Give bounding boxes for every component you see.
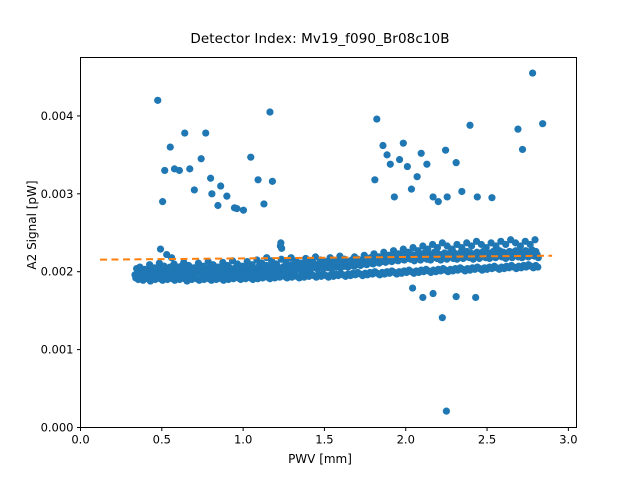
data-point [409,284,416,291]
data-point [269,178,276,185]
data-point [371,176,378,183]
data-point [383,151,390,158]
data-point [534,263,541,270]
y-tick-label: 0.003 [41,187,74,201]
data-point [435,198,442,205]
data-point [408,186,415,193]
data-point [439,314,446,321]
data-point [176,167,183,174]
data-point [488,194,495,201]
data-point [223,193,230,200]
data-point [161,167,168,174]
data-point [472,294,479,301]
x-axis-label: PWV [mm] [0,452,640,466]
data-point [208,190,215,197]
data-point [443,408,450,415]
data-point [191,186,198,193]
data-point [168,254,175,261]
x-tick-label: 0.5 [153,433,171,447]
data-point [519,146,526,153]
data-point [233,205,240,212]
data-point [278,245,285,252]
data-point [429,290,436,297]
data-point [396,156,403,163]
y-axis-label: A2 Signal [pW] [25,145,39,305]
data-point [418,150,425,157]
y-tick-label: 0.004 [41,109,74,123]
x-tick-label: 3.0 [559,433,577,447]
y-tick-label: 0.001 [41,343,74,357]
data-point [458,188,465,195]
data-point [167,143,174,150]
data-point [419,294,426,301]
data-point [240,207,247,214]
data-point [159,198,166,205]
x-tick-label: 0.0 [71,433,89,447]
data-point [154,97,161,104]
data-point [217,182,224,189]
data-point [400,140,407,147]
data-point [379,142,386,149]
data-point [453,159,460,166]
scatter-series [131,69,546,414]
data-point [387,161,394,168]
x-tick-label: 2.0 [397,433,415,447]
x-tick-label: 1.5 [315,433,333,447]
data-point [531,236,538,243]
data-point [444,193,451,200]
y-tick-label: 0.000 [41,421,74,435]
data-point [539,120,546,127]
data-point [266,108,273,115]
data-point [254,176,261,183]
data-point [414,173,421,180]
data-point [423,161,430,168]
y-tick-label: 0.002 [41,265,74,279]
data-point [186,165,193,172]
data-layer [100,69,552,414]
scatter-plot: 0.00.51.01.52.02.53.00.0000.0010.0020.00… [0,0,640,480]
data-point [466,122,473,129]
data-point [214,202,221,209]
data-point [514,126,521,133]
data-point [198,155,205,162]
data-point [258,260,265,267]
data-point [181,129,188,136]
data-point [207,175,214,182]
data-point [442,147,449,154]
data-point [247,154,254,161]
x-tick-label: 2.5 [478,433,496,447]
data-point [391,193,398,200]
x-tick-label: 1.0 [234,433,252,447]
data-point [529,69,536,76]
data-point [373,115,380,122]
data-point [157,246,164,253]
matplotlib-figure: Detector Index: Mv19_f090_Br08c10B 0.00.… [0,0,640,480]
data-point [202,129,209,136]
data-point [260,200,267,207]
data-point [404,163,411,170]
data-point [453,293,460,300]
data-point [474,193,481,200]
